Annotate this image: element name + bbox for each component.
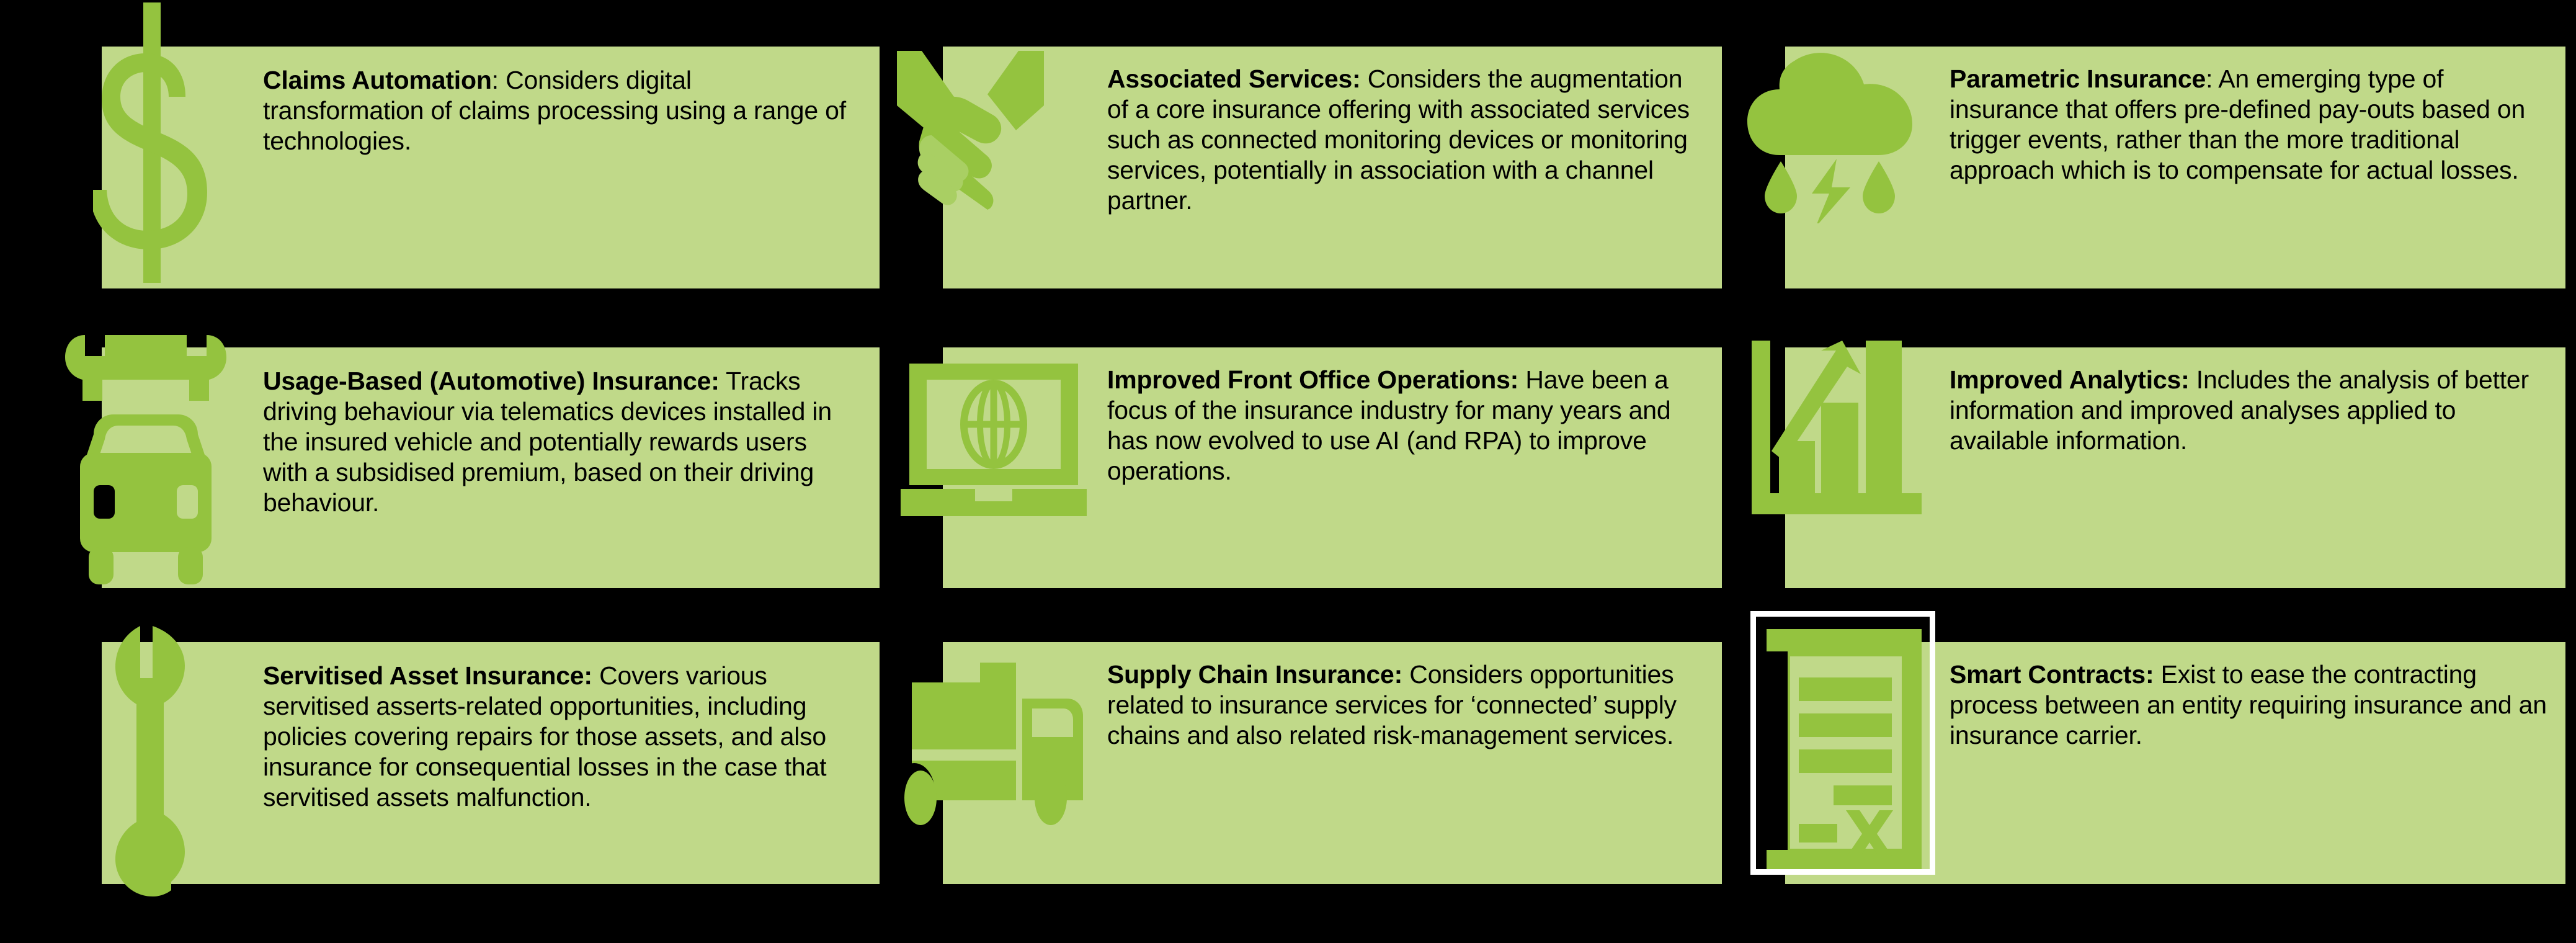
card-text-associated-services: Associated Services: Considers the augme…	[1107, 64, 1706, 216]
smart-contracts-highlight-frame	[1750, 611, 1935, 875]
card-text-improved-analytics: Improved Analytics: Includes the analysi…	[1950, 365, 2554, 456]
card-supply-chain-insurance[interactable]: Supply Chain Insurance: Considers opport…	[943, 642, 1722, 884]
card-text-smart-contracts: Smart Contracts: Exist to ease the contr…	[1950, 659, 2554, 751]
card-improved-front-office-operations[interactable]: Improved Front Office Operations: Have b…	[943, 347, 1722, 588]
card-separator-claims-automation: :	[492, 66, 499, 94]
card-title-improved-front-office-operations: Improved Front Office Operations:	[1107, 365, 1518, 394]
card-title-usage-based-automotive-insurance: Usage-Based (Automotive) Insurance:	[263, 367, 720, 395]
card-servitised-asset-insurance[interactable]: Servitised Asset Insurance: Covers vario…	[102, 642, 880, 884]
card-title-claims-automation: Claims Automation	[263, 66, 492, 94]
insurance-opportunities-grid: Claims Automation: Considers digital tra…	[0, 0, 2576, 943]
card-text-supply-chain-insurance: Supply Chain Insurance: Considers opport…	[1107, 659, 1706, 751]
card-text-improved-front-office-operations: Improved Front Office Operations: Have b…	[1107, 365, 1706, 486]
card-text-parametric-insurance: Parametric Insurance: An emerging type o…	[1950, 64, 2554, 185]
card-title-supply-chain-insurance: Supply Chain Insurance:	[1107, 660, 1402, 689]
card-associated-services[interactable]: Associated Services: Considers the augme…	[943, 47, 1722, 288]
card-title-improved-analytics: Improved Analytics:	[1950, 365, 2190, 394]
card-separator-parametric-insurance: :	[2206, 65, 2213, 93]
card-title-smart-contracts: Smart Contracts:	[1950, 660, 2154, 689]
card-improved-analytics[interactable]: Improved Analytics: Includes the analysi…	[1785, 347, 2565, 588]
card-usage-based-automotive-insurance[interactable]: Usage-Based (Automotive) Insurance: Trac…	[102, 347, 880, 588]
card-title-parametric-insurance: Parametric Insurance	[1950, 65, 2206, 93]
card-claims-automation[interactable]: Claims Automation: Considers digital tra…	[102, 47, 880, 288]
card-parametric-insurance[interactable]: Parametric Insurance: An emerging type o…	[1785, 47, 2565, 288]
card-title-servitised-asset-insurance: Servitised Asset Insurance:	[263, 661, 592, 690]
card-text-servitised-asset-insurance: Servitised Asset Insurance: Covers vario…	[263, 661, 858, 813]
card-text-claims-automation: Claims Automation: Considers digital tra…	[263, 65, 858, 156]
card-title-associated-services: Associated Services:	[1107, 65, 1361, 93]
card-text-usage-based-automotive-insurance: Usage-Based (Automotive) Insurance: Trac…	[263, 366, 858, 518]
